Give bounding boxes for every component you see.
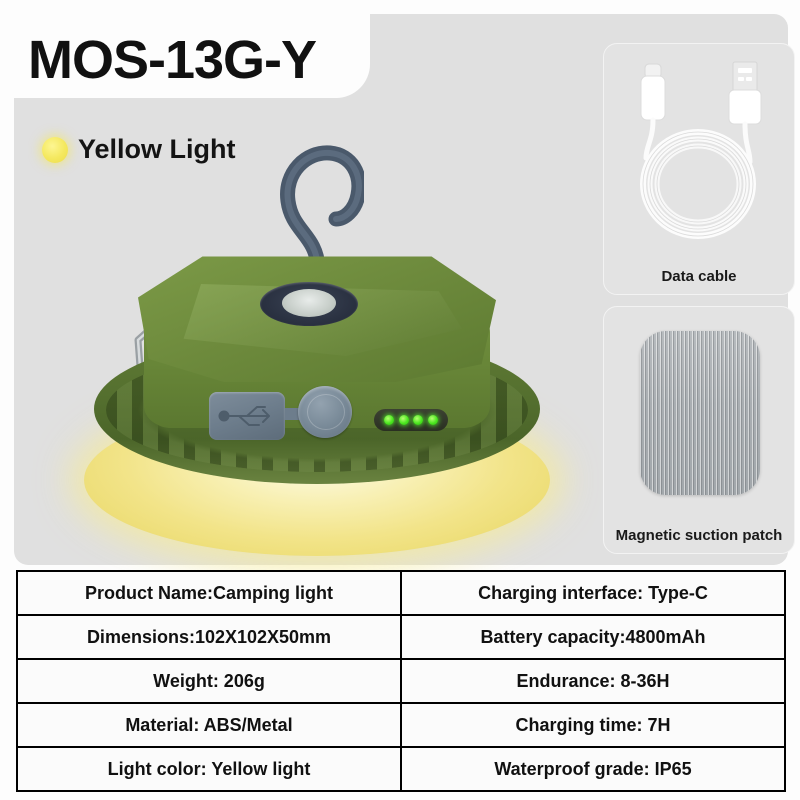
accessory-label: Magnetic suction patch bbox=[604, 527, 794, 544]
magnetic-suction-patch-icon bbox=[640, 331, 760, 495]
light-color-label: Yellow Light bbox=[78, 134, 236, 165]
spec-cell-left: Weight: 206g bbox=[17, 659, 401, 703]
spec-cell-left: Dimensions:102X102X50mm bbox=[17, 615, 401, 659]
led-indicator bbox=[384, 415, 394, 425]
table-row: Light color: Yellow light Waterproof gra… bbox=[17, 747, 785, 791]
accessory-card-data-cable: Data cable bbox=[603, 43, 795, 295]
usb-symbol-icon bbox=[217, 402, 279, 430]
spec-cell-right: Battery capacity:4800mAh bbox=[401, 615, 785, 659]
table-row: Material: ABS/Metal Charging time: 7H bbox=[17, 703, 785, 747]
usb-data-cable-icon bbox=[616, 54, 784, 252]
spec-cell-left: Light color: Yellow light bbox=[17, 747, 401, 791]
magnet-disc-inner bbox=[282, 289, 336, 317]
product-detail-page: Data cable Magnetic suction patch MOS-13… bbox=[0, 0, 800, 800]
led-indicator bbox=[428, 415, 438, 425]
camping-lamp-product-image bbox=[76, 134, 556, 574]
yellow-light-dot-icon bbox=[42, 137, 68, 163]
spec-cell-right: Waterproof grade: IP65 bbox=[401, 747, 785, 791]
spec-cell-right: Charging interface: Type-C bbox=[401, 571, 785, 615]
table-row: Dimensions:102X102X50mm Battery capacity… bbox=[17, 615, 785, 659]
table-row: Weight: 206g Endurance: 8-36H bbox=[17, 659, 785, 703]
accessory-label: Data cable bbox=[604, 268, 794, 285]
table-row: Product Name:Camping light Charging inte… bbox=[17, 571, 785, 615]
spec-cell-right: Endurance: 8-36H bbox=[401, 659, 785, 703]
battery-led-indicator-icon bbox=[374, 409, 448, 431]
light-color-badge: Yellow Light bbox=[42, 134, 236, 165]
specification-table: Product Name:Camping light Charging inte… bbox=[16, 570, 786, 792]
spec-cell-left: Material: ABS/Metal bbox=[17, 703, 401, 747]
led-indicator bbox=[413, 415, 423, 425]
power-button-icon[interactable] bbox=[298, 386, 352, 438]
accessory-card-magnetic-patch: Magnetic suction patch bbox=[603, 306, 795, 554]
spec-table-body: Product Name:Camping light Charging inte… bbox=[17, 571, 785, 791]
spec-cell-right: Charging time: 7H bbox=[401, 703, 785, 747]
page-title: MOS-13G-Y bbox=[28, 29, 316, 91]
hero-panel: Data cable Magnetic suction patch MOS-13… bbox=[14, 14, 788, 565]
led-indicator bbox=[399, 415, 409, 425]
spec-cell-left: Product Name:Camping light bbox=[17, 571, 401, 615]
